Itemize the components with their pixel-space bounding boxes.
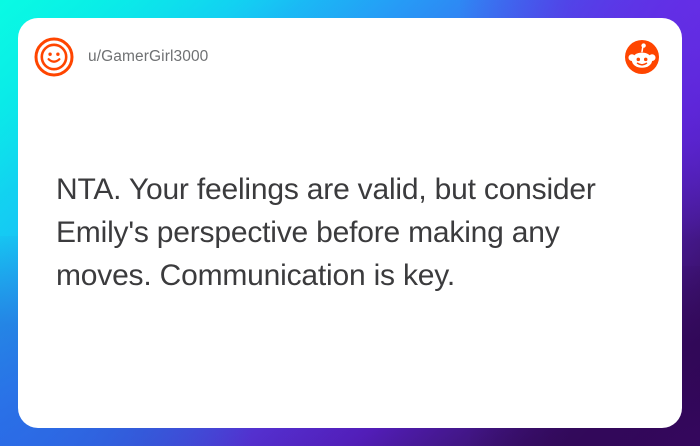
- screenshot-root: u/GamerGirl3000 NTA. Your feelings are v…: [0, 0, 700, 446]
- smiley-face-avatar-icon: [34, 37, 74, 77]
- reddit-comment-card: u/GamerGirl3000 NTA. Your feelings are v…: [18, 18, 682, 428]
- username-label: u/GamerGirl3000: [88, 48, 208, 66]
- card-header: u/GamerGirl3000: [18, 18, 682, 96]
- comment-text: NTA. Your feelings are valid, but consid…: [56, 168, 652, 297]
- reddit-snoo-logo-icon: [624, 39, 660, 75]
- card-body: NTA. Your feelings are valid, but consid…: [56, 168, 652, 297]
